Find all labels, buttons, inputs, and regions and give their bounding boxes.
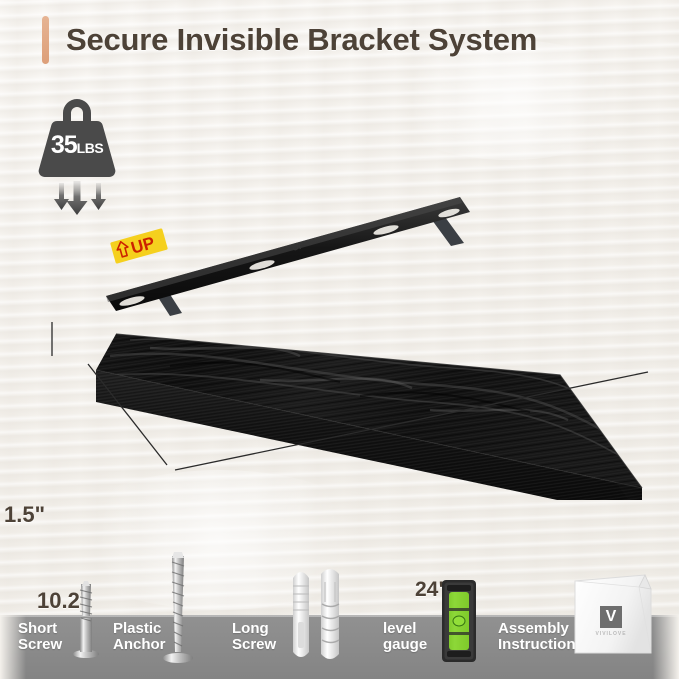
dimension-thickness: 1.5" bbox=[4, 502, 45, 528]
shelf-illustration: UP UP bbox=[0, 170, 679, 500]
level-gauge-label: level gauge bbox=[383, 621, 427, 653]
plastic-anchor-icon bbox=[285, 560, 349, 670]
product-scene: UP UP bbox=[0, 170, 679, 500]
plastic-anchor-label: Plastic Anchor bbox=[113, 621, 166, 653]
page-title: Secure Invisible Bracket System bbox=[42, 16, 537, 64]
brand-logo-icon: V bbox=[600, 606, 622, 628]
title-accent-bar bbox=[42, 16, 49, 64]
long-screw-label: Long Screw bbox=[232, 621, 276, 653]
product-infographic: Secure Invisible Bracket System bbox=[0, 0, 679, 679]
short-screw-icon bbox=[69, 578, 103, 667]
level-gauge-icon bbox=[440, 578, 478, 669]
assembly-instruction-label: Assembly Instruction bbox=[498, 621, 576, 653]
brand-name: VIVILOVE bbox=[579, 631, 643, 637]
up-sticker: UP bbox=[110, 228, 168, 264]
long-screw-icon bbox=[160, 548, 196, 673]
floating-shelf-board bbox=[80, 310, 679, 500]
short-screw-label: Short Screw bbox=[18, 621, 62, 653]
mounting-bracket: UP UP bbox=[106, 197, 470, 316]
assembly-instruction-booklet: V VIVILOVE bbox=[571, 573, 657, 655]
title-text: Secure Invisible Bracket System bbox=[66, 22, 537, 58]
